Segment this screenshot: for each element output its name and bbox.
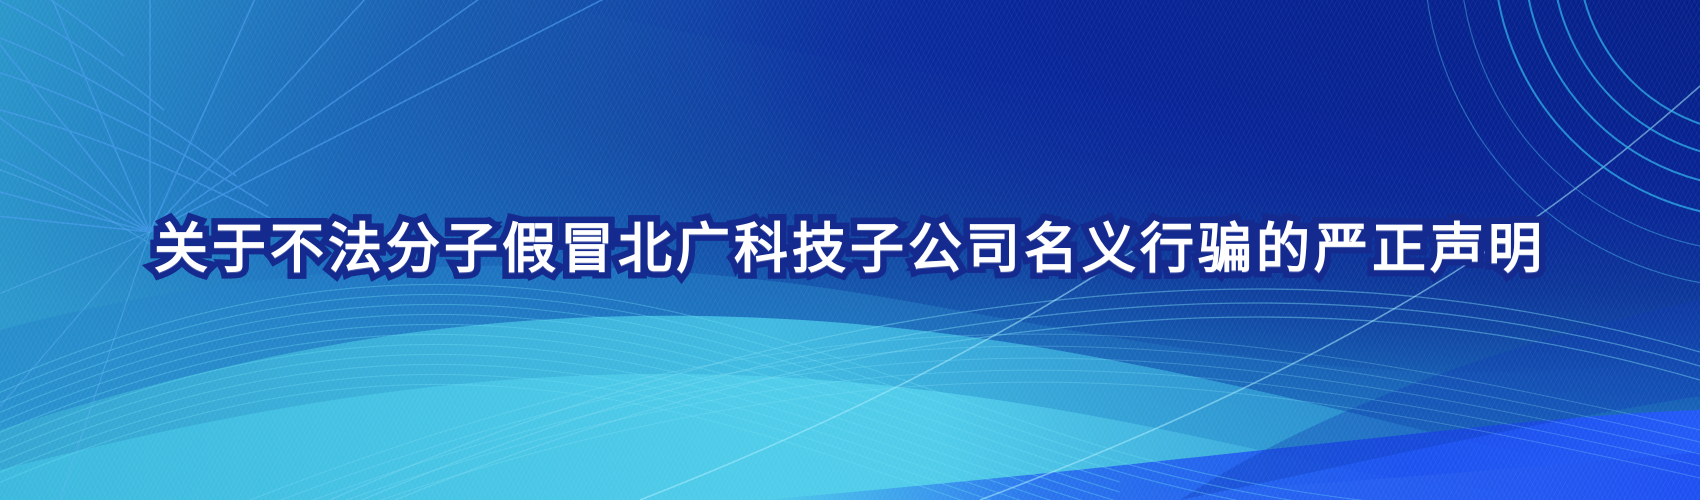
banner-title: 关于不法分子假冒北广科技子公司名义行骗的严正声明	[154, 217, 1546, 280]
banner-title-stack: 关于不法分子假冒北广科技子公司名义行骗的严正声明 关于不法分子假冒北广科技子公司…	[154, 206, 1546, 292]
banner-title-container: 关于不法分子假冒北广科技子公司名义行骗的严正声明 关于不法分子假冒北广科技子公司…	[0, 204, 1700, 294]
announcement-banner: 关于不法分子假冒北广科技子公司名义行骗的严正声明 关于不法分子假冒北广科技子公司…	[0, 0, 1700, 500]
